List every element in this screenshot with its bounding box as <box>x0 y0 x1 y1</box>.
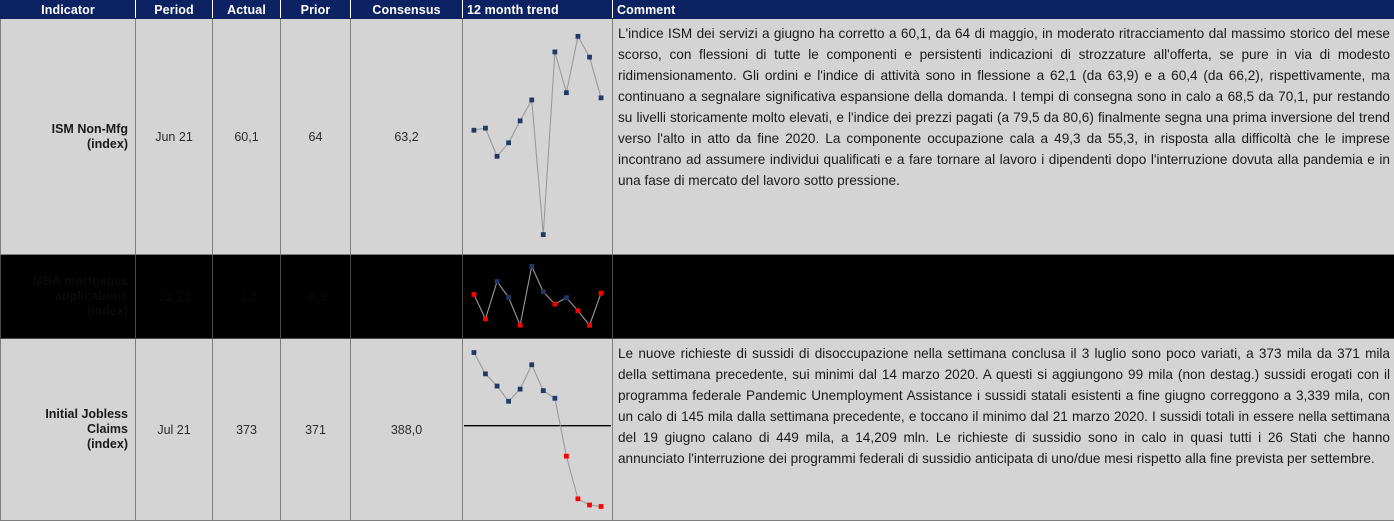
table-row: ISM Non-Mfg(index)Jun 2160,16463,2L'indi… <box>1 19 1394 255</box>
data-point-marker <box>495 384 500 389</box>
data-point-marker <box>518 118 523 123</box>
cell-actual: 60,1 <box>213 19 281 255</box>
data-point-marker <box>576 308 581 313</box>
indicator-label-line: (index) <box>2 304 128 319</box>
data-point-marker <box>472 292 477 297</box>
data-point-marker <box>518 387 523 392</box>
data-point-marker <box>552 396 557 401</box>
cell-12-month-trend <box>463 339 613 521</box>
data-point-marker <box>506 399 511 404</box>
sparkline-container <box>464 256 611 337</box>
data-point-marker <box>529 362 534 367</box>
cell-prior: 371 <box>281 339 351 521</box>
data-point-marker <box>506 295 511 300</box>
cell-comment <box>613 255 1394 339</box>
cell-consensus: 388,0 <box>351 339 463 521</box>
table-header: Indicator Period Actual Prior Consensus … <box>1 1 1394 19</box>
table-row: Initial JoblessClaims(index)Jul 21373371… <box>1 339 1394 521</box>
data-point-marker <box>599 95 604 100</box>
cell-consensus <box>351 255 463 339</box>
indicator-label-line: MBA mortgages <box>2 274 128 289</box>
column-header-consensus[interactable]: Consensus <box>351 1 463 19</box>
economic-indicator-table: Indicator Period Actual Prior Consensus … <box>0 0 1394 521</box>
data-point-marker <box>529 264 534 269</box>
economic-calendar-sheet: Indicator Period Actual Prior Consensus … <box>0 0 1394 521</box>
indicator-label-line: (index) <box>2 437 128 452</box>
indicator-label-line: (index) <box>2 137 128 152</box>
data-point-marker <box>518 323 523 328</box>
data-point-marker <box>564 454 569 459</box>
cell-indicator: MBA mortgagesapplications(index) <box>1 255 136 339</box>
trend-line <box>474 353 601 507</box>
data-point-marker <box>599 504 604 509</box>
data-point-marker <box>483 372 488 377</box>
column-header-12-month-trend[interactable]: 12 month trend <box>463 1 613 19</box>
sparkline-chart <box>464 340 611 519</box>
cell-actual: -1,8 <box>213 255 281 339</box>
data-point-marker <box>472 128 477 133</box>
data-point-marker <box>541 232 546 237</box>
data-point-marker <box>587 323 592 328</box>
data-point-marker <box>599 291 604 296</box>
data-point-marker <box>495 279 500 284</box>
sparkline-container <box>464 20 611 253</box>
header-row: Indicator Period Actual Prior Consensus … <box>1 1 1394 19</box>
cell-consensus: 63,2 <box>351 19 463 255</box>
data-point-marker <box>576 34 581 39</box>
indicator-label-line: Initial Jobless <box>2 407 128 422</box>
column-header-prior[interactable]: Prior <box>281 1 351 19</box>
data-point-marker <box>506 140 511 145</box>
data-point-marker <box>483 126 488 131</box>
cell-indicator: ISM Non-Mfg(index) <box>1 19 136 255</box>
data-point-marker <box>483 317 488 322</box>
column-header-indicator[interactable]: Indicator <box>1 1 136 19</box>
cell-comment: Le nuove richieste di sussidi di disoccu… <box>613 339 1394 521</box>
data-point-marker <box>564 90 569 95</box>
indicator-label-line: applications <box>2 289 128 304</box>
data-point-marker <box>564 295 569 300</box>
data-point-marker <box>541 289 546 294</box>
cell-indicator: Initial JoblessClaims(index) <box>1 339 136 521</box>
data-point-marker <box>529 98 534 103</box>
cell-prior: -6,9 <box>281 255 351 339</box>
column-header-actual[interactable]: Actual <box>213 1 281 19</box>
cell-comment: L'indice ISM dei servizi a giugno ha cor… <box>613 19 1394 255</box>
data-point-marker <box>587 55 592 60</box>
sparkline-chart <box>464 20 611 253</box>
data-point-marker <box>552 302 557 307</box>
cell-12-month-trend <box>463 19 613 255</box>
cell-actual: 373 <box>213 339 281 521</box>
sparkline-container <box>464 340 611 519</box>
indicator-label-line: ISM Non-Mfg <box>2 122 128 137</box>
cell-period: Jun 21 <box>136 19 213 255</box>
cell-12-month-trend <box>463 255 613 339</box>
trend-line <box>474 36 601 234</box>
trend-line <box>474 266 601 325</box>
table-body: ISM Non-Mfg(index)Jun 2160,16463,2L'indi… <box>1 19 1394 521</box>
indicator-label-line: Claims <box>2 422 128 437</box>
data-point-marker <box>576 496 581 501</box>
data-point-marker <box>552 50 557 55</box>
cell-period: Jul 21 <box>136 339 213 521</box>
data-point-marker <box>495 154 500 159</box>
sparkline-chart <box>464 256 611 337</box>
cell-period: Jul 21 <box>136 255 213 339</box>
cell-prior: 64 <box>281 19 351 255</box>
data-point-marker <box>541 388 546 393</box>
table-row: MBA mortgagesapplications(index)Jul 21-1… <box>1 255 1394 339</box>
column-header-period[interactable]: Period <box>136 1 213 19</box>
data-point-marker <box>587 503 592 508</box>
data-point-marker <box>472 350 477 355</box>
column-header-comment[interactable]: Comment <box>613 1 1394 19</box>
